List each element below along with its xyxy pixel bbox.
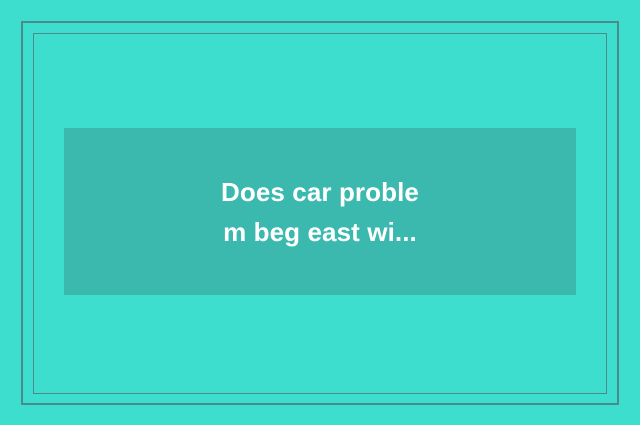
banner-box: Does car proble m beg east wi... <box>64 128 576 295</box>
banner-text: Does car proble m beg east wi... <box>221 172 419 252</box>
placeholder-image-canvas: Does car proble m beg east wi... <box>0 0 640 425</box>
